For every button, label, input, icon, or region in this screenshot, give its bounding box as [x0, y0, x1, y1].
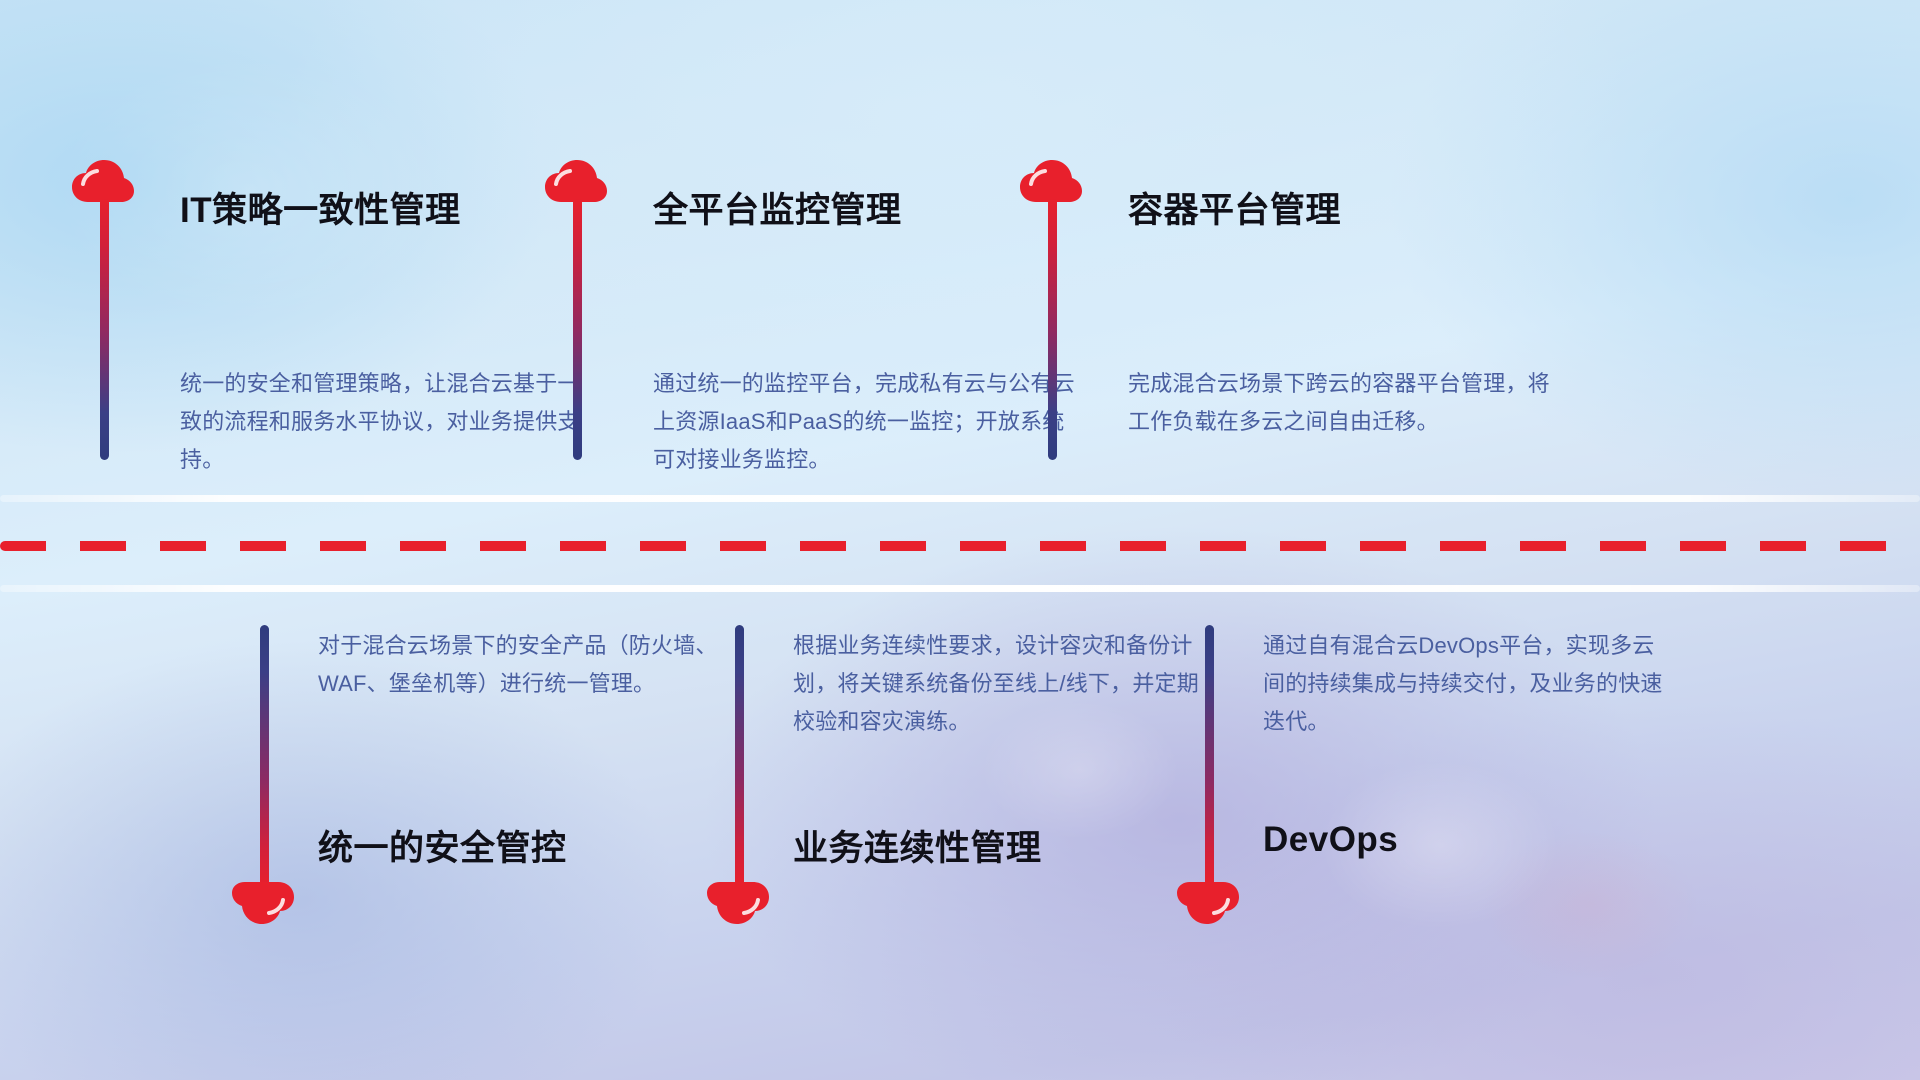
top-item-2-heading: 全平台监控管理: [653, 182, 902, 233]
connector-stem: [1205, 625, 1214, 887]
cloud-icon: [707, 880, 769, 924]
bottom-item-1-heading: 统一的安全管控: [318, 820, 567, 871]
divider-rule-bottom: [0, 585, 1920, 592]
top-item-2-body: 通过统一的监控平台，完成私有云与公有云上资源IaaS和PaaS的统一监控；开放系…: [653, 365, 1083, 479]
background-speckle-red: [1480, 830, 1700, 980]
red-dashed-divider: [0, 541, 1920, 551]
bottom-item-1-body: 对于混合云场景下的安全产品（防火墙、WAF、堡垒机等）进行统一管理。: [318, 627, 738, 703]
top-item-3-body: 完成混合云场景下跨云的容器平台管理，将工作负载在多云之间自由迁移。: [1128, 365, 1558, 441]
connector-stem: [100, 198, 109, 460]
top-item-1-heading: IT策略一致性管理: [180, 182, 461, 233]
cloud-icon: [1177, 880, 1239, 924]
top-item-3-heading: 容器平台管理: [1128, 182, 1341, 233]
connector-stem: [1048, 198, 1057, 460]
bottom-item-3-heading: DevOps: [1263, 820, 1398, 860]
connector-stem: [260, 625, 269, 887]
bottom-item-2-body: 根据业务连续性要求，设计容灾和备份计划，将关键系统备份至线上/线下，并定期校验和…: [793, 627, 1213, 741]
cloud-icon: [232, 880, 294, 924]
connector-stem: [573, 198, 582, 460]
bottom-item-2-heading: 业务连续性管理: [793, 820, 1042, 871]
infographic-canvas: IT策略一致性管理 统一的安全和管理策略，让混合云基于一致的流程和服务水平协议，…: [0, 0, 1920, 1080]
divider-rule-top: [0, 495, 1920, 502]
top-item-1-body: 统一的安全和管理策略，让混合云基于一致的流程和服务水平协议，对业务提供支持。: [180, 365, 600, 479]
connector-stem: [735, 625, 744, 887]
bottom-item-3-body: 通过自有混合云DevOps平台，实现多云间的持续集成与持续交付，及业务的快速迭代…: [1263, 627, 1663, 741]
